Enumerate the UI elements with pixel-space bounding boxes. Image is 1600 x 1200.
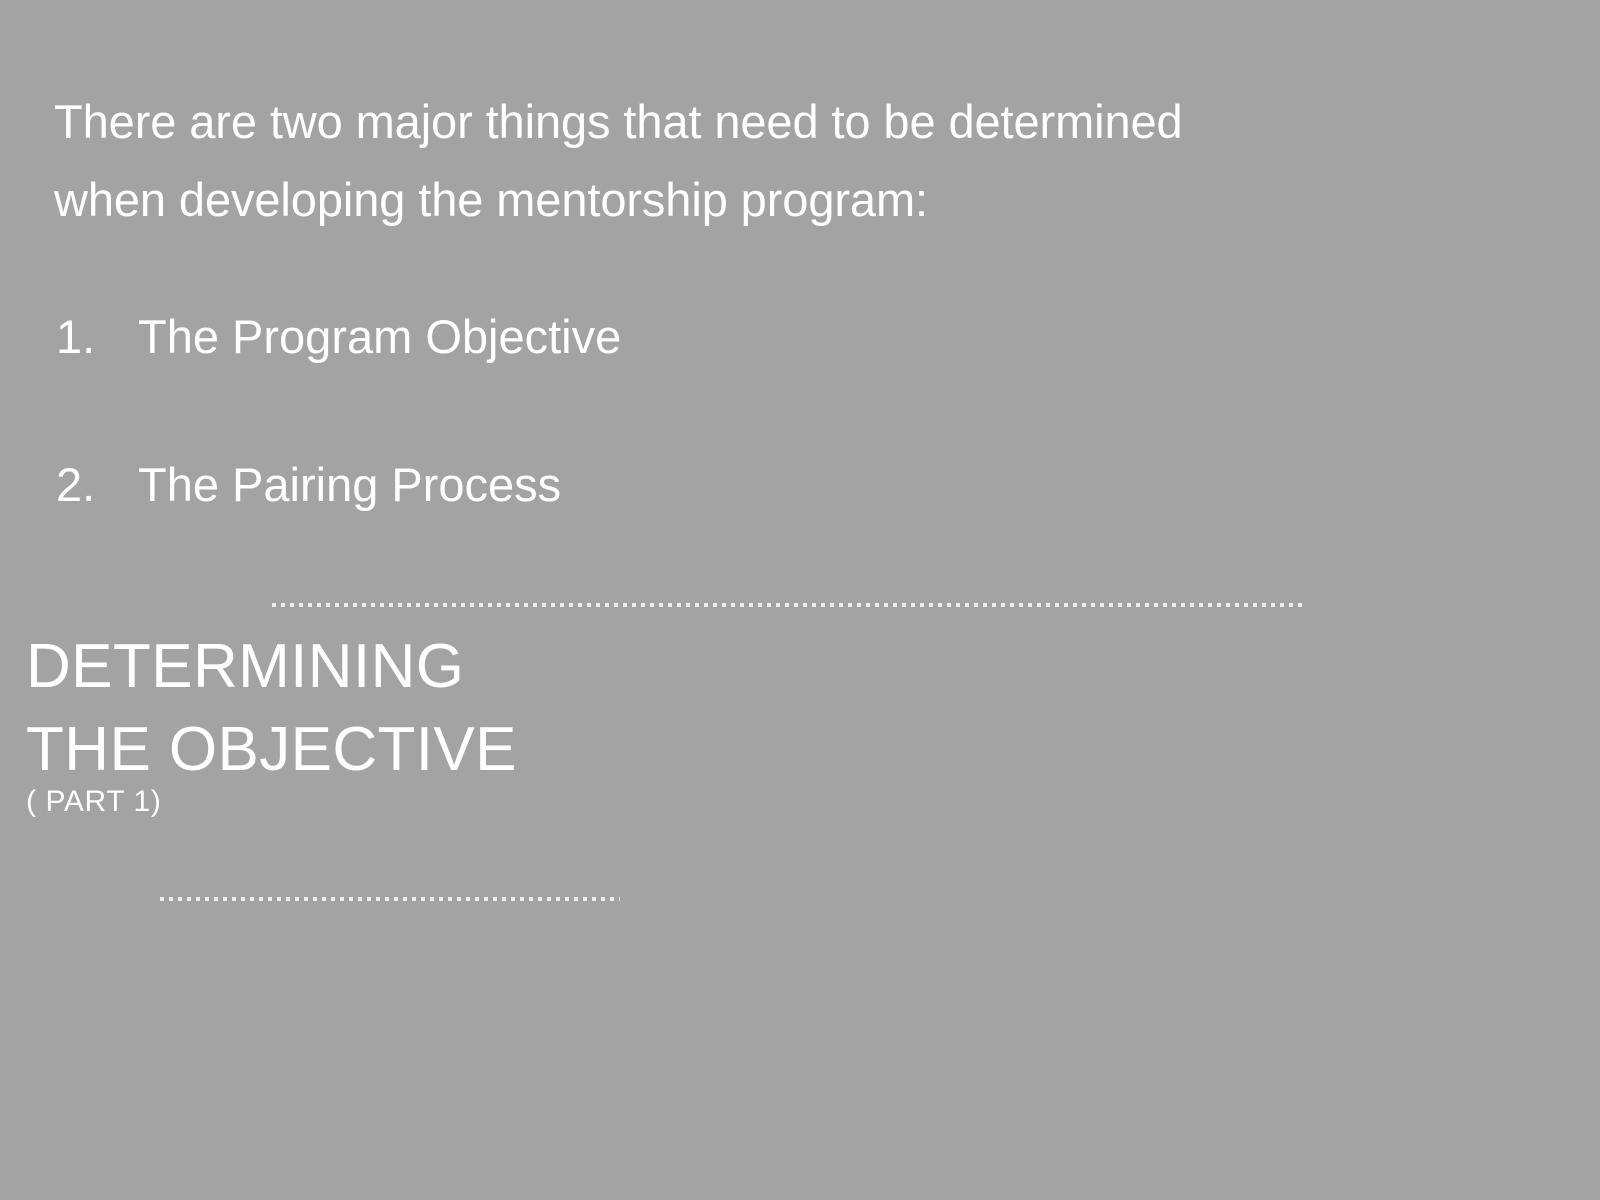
numbered-list: 1. The Program Objective 2. The Pairing …	[56, 307, 1456, 603]
section-title-line-2: THE OBJECTIVE	[26, 708, 926, 791]
section-title-line-1: DETERMINING	[26, 625, 926, 708]
intro-line-1: There are two major things that need to …	[54, 83, 1514, 161]
list-item-marker: 1.	[56, 307, 138, 367]
section-subtitle: ( PART 1)	[26, 782, 161, 822]
dotted-divider-top	[272, 603, 1304, 607]
slide-canvas: There are two major things that need to …	[0, 0, 1600, 1200]
list-item-label: The Pairing Process	[138, 455, 561, 515]
list-item: 1. The Program Objective	[56, 307, 1456, 455]
list-item-marker: 2.	[56, 455, 138, 515]
list-item-label: The Program Objective	[138, 307, 621, 367]
intro-paragraph: There are two major things that need to …	[54, 83, 1514, 239]
section-title: DETERMINING THE OBJECTIVE	[26, 625, 926, 791]
intro-line-2: when developing the mentorship program:	[54, 161, 1514, 239]
list-item: 2. The Pairing Process	[56, 455, 1456, 603]
dotted-divider-bottom	[160, 897, 620, 901]
